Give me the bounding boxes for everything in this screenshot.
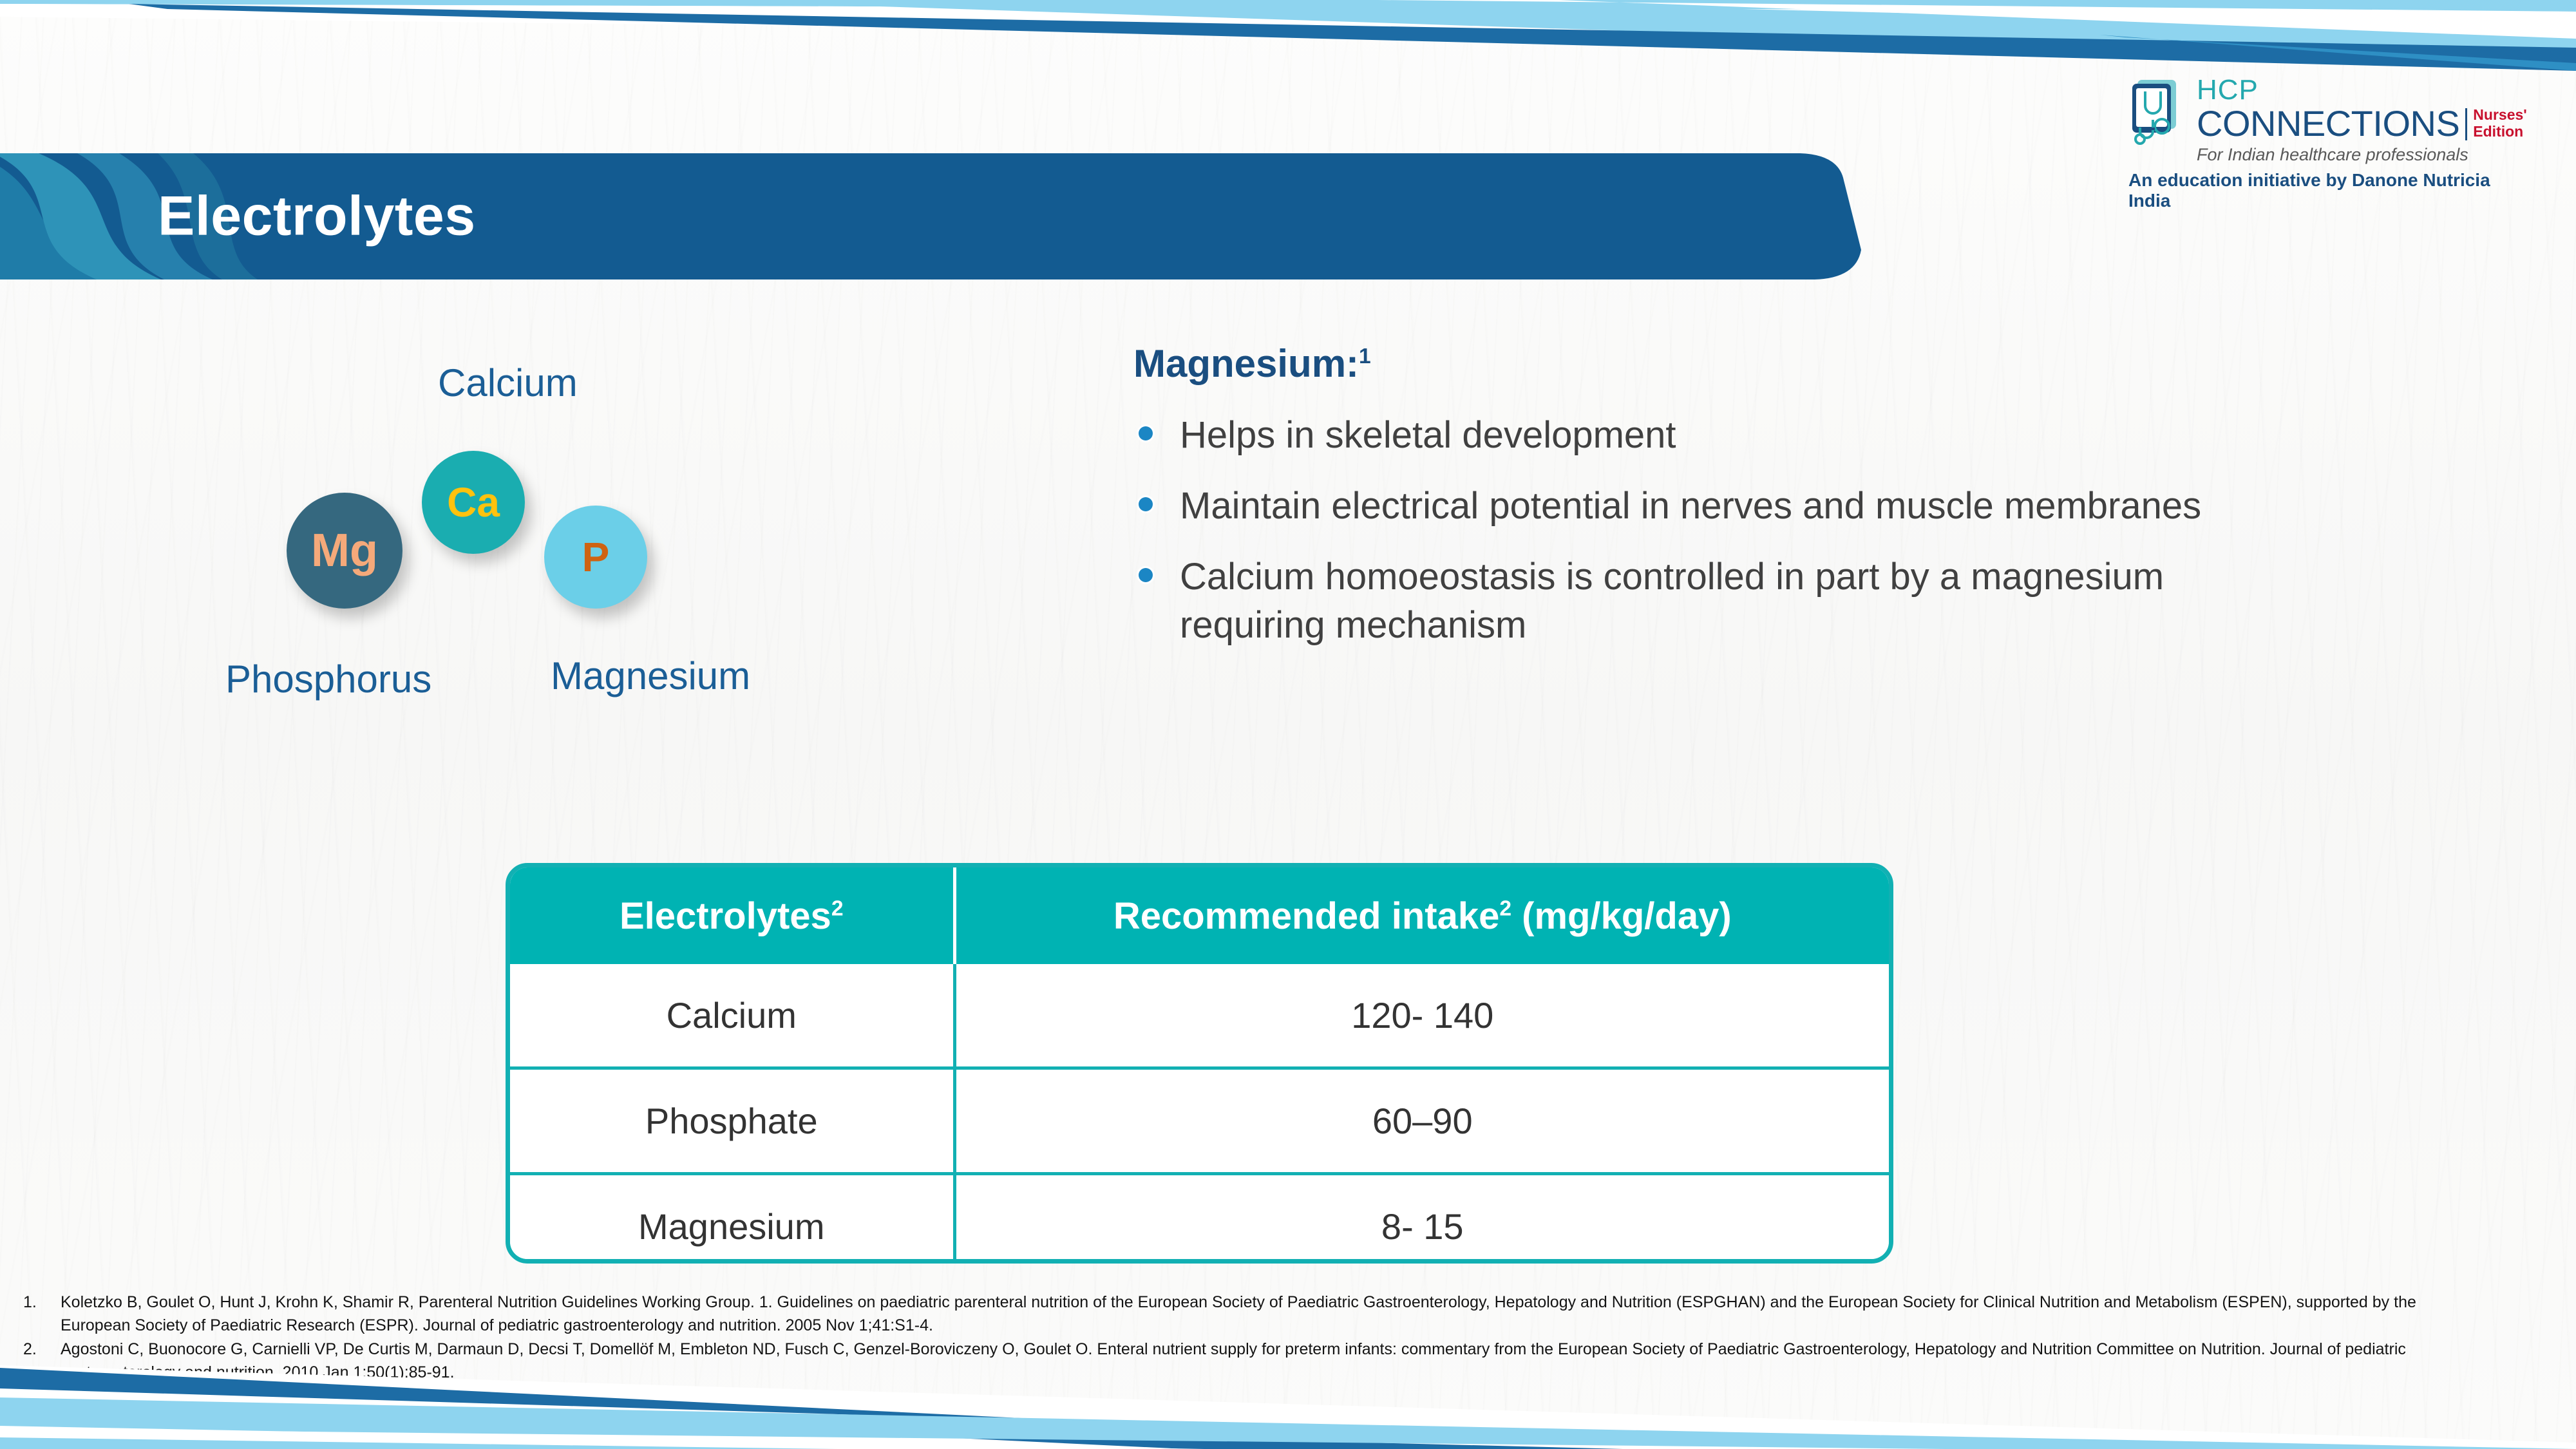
- column-header-electrolytes-superscript: 2: [831, 896, 844, 920]
- tablet-stethoscope-icon: [2128, 76, 2188, 153]
- column-header-electrolytes: Electrolytes2: [510, 867, 954, 964]
- column-header-intake-units: (mg/kg/day): [1511, 895, 1732, 937]
- table-row: Magnesium 8- 15: [510, 1174, 1889, 1264]
- bullet-list: Helps in skeletal development Maintain e…: [1133, 412, 2228, 649]
- reference-text: Agostoni C, Buonocore G, Carnielli VP, D…: [61, 1338, 2436, 1384]
- bullet-text: Maintain electrical potential in nerves …: [1180, 485, 2201, 527]
- list-item: Calcium homoeostasis is controlled in pa…: [1133, 553, 2228, 649]
- recommended-intake-table: Electrolytes2 Recommended intake2 (mg/kg…: [506, 863, 1893, 1264]
- logo-nurses-line1: Nurses': [2473, 107, 2526, 124]
- content-column: Magnesium:1 Helps in skeletal developmen…: [1133, 341, 2228, 672]
- diagram-label-phosphorus: Phosphorus: [225, 657, 431, 701]
- cell-electrolyte: Calcium: [510, 964, 954, 1068]
- brand-logo: HCP CONNECTIONS Nurses' Edition For Indi…: [2128, 76, 2508, 198]
- bullet-dot-icon: [1139, 568, 1153, 582]
- diagram-label-magnesium: Magnesium: [551, 654, 750, 698]
- slide-title-bar: Electrolytes: [0, 153, 1861, 279]
- logo-hcp-text: HCP: [2197, 76, 2527, 104]
- column-header-intake-text: Recommended intake: [1113, 895, 1500, 937]
- cell-intake: 60–90: [954, 1068, 1889, 1174]
- atom-circle-p: P: [544, 506, 647, 609]
- top-decorative-ribbon: [0, 0, 2576, 71]
- diagram-label-calcium: Calcium: [438, 361, 578, 405]
- logo-divider: [2465, 108, 2467, 140]
- logo-connections-text: CONNECTIONS: [2197, 106, 2459, 142]
- table-header-row: Electrolytes2 Recommended intake2 (mg/kg…: [510, 867, 1889, 964]
- list-item: Maintain electrical potential in nerves …: [1133, 482, 2228, 530]
- page-title: Electrolytes: [158, 185, 476, 249]
- content-heading-text: Magnesium:: [1133, 342, 1359, 385]
- slide-canvas: Electrolytes HCP CONNECTIONS Nu: [0, 0, 2576, 1449]
- bullet-text: Helps in skeletal development: [1180, 414, 1676, 456]
- content-heading: Magnesium:1: [1133, 341, 2228, 386]
- atom-circle-mg: Mg: [287, 493, 402, 609]
- cell-electrolyte: Magnesium: [510, 1174, 954, 1264]
- list-item: Helps in skeletal development: [1133, 412, 2228, 459]
- reference-number: 2.: [14, 1338, 61, 1384]
- electrolyte-molecule-diagram: Calcium Mg Ca P Phosphorus Magnesium: [187, 361, 869, 715]
- bullet-dot-icon: [1139, 497, 1153, 511]
- table-row: Phosphate 60–90: [510, 1068, 1889, 1174]
- references-block: 1. Koletzko B, Goulet O, Hunt J, Krohn K…: [14, 1291, 2436, 1385]
- table-row: Calcium 120- 140: [510, 964, 1889, 1068]
- reference-item: 1. Koletzko B, Goulet O, Hunt J, Krohn K…: [14, 1291, 2436, 1337]
- cell-intake: 120- 140: [954, 964, 1889, 1068]
- reference-number: 1.: [14, 1291, 61, 1337]
- reference-text: Koletzko B, Goulet O, Hunt J, Krohn K, S…: [61, 1291, 2436, 1337]
- logo-initiative-line: An education initiative by Danone Nutric…: [2128, 170, 2508, 211]
- bullet-text: Calcium homoeostasis is controlled in pa…: [1180, 556, 2164, 645]
- column-header-intake-superscript: 2: [1499, 896, 1511, 920]
- atom-circle-ca: Ca: [422, 451, 525, 554]
- cell-intake: 8- 15: [954, 1174, 1889, 1264]
- cell-electrolyte: Phosphate: [510, 1068, 954, 1174]
- content-heading-superscript: 1: [1359, 345, 1371, 368]
- reference-item: 2. Agostoni C, Buonocore G, Carnielli VP…: [14, 1338, 2436, 1384]
- logo-nurses-line2: Edition: [2473, 124, 2526, 140]
- bullet-dot-icon: [1139, 426, 1153, 440]
- column-header-electrolytes-text: Electrolytes: [620, 895, 831, 937]
- logo-tagline: For Indian healthcare professionals: [2197, 146, 2527, 164]
- column-header-intake: Recommended intake2 (mg/kg/day): [954, 867, 1889, 964]
